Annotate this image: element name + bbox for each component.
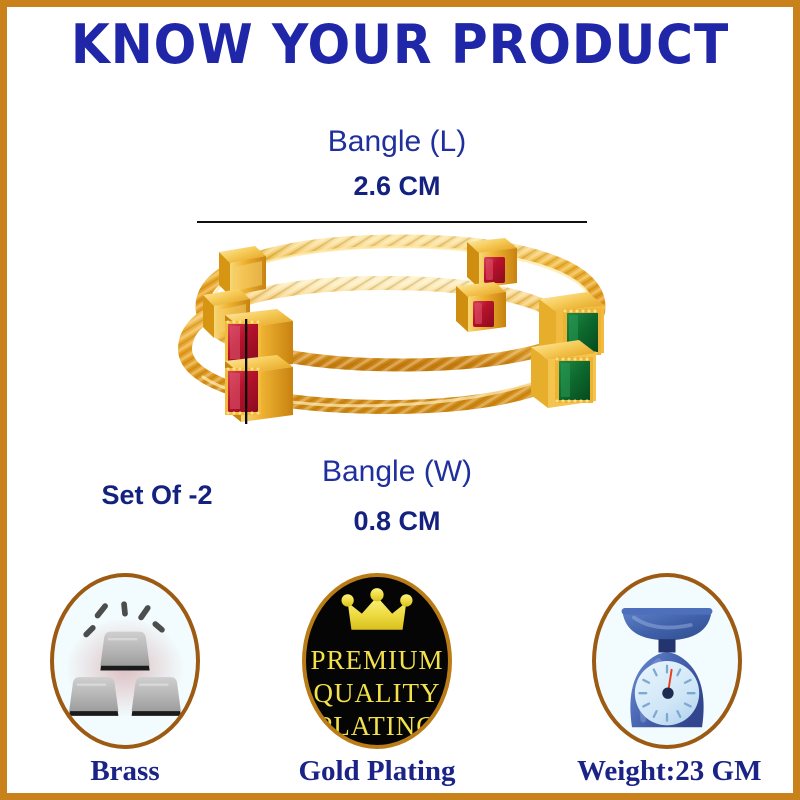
length-measure-line <box>197 221 587 223</box>
feature-weight: Weight:23 GM <box>577 573 757 788</box>
cube-red-small-back <box>467 238 517 288</box>
badge-line-quality: QUALITY <box>306 680 448 707</box>
crown-icon <box>342 588 413 630</box>
feature-brass-label: Brass <box>35 755 215 788</box>
page-title: KNOW YOUR PRODUCT <box>35 13 766 76</box>
stone-cube-green-lower <box>531 340 596 408</box>
scale-dial <box>635 661 699 725</box>
bangle-length-value: 2.6 CM <box>207 172 587 202</box>
scale-neck <box>658 639 675 652</box>
weighing-scale-icon <box>592 573 742 749</box>
feature-gold-plating: PREMIUM QUALITY PLATING Gold Plating <box>287 573 467 788</box>
ingot-bottom-right <box>132 677 181 716</box>
cube-red-small-front <box>456 282 506 332</box>
ingot-top <box>100 632 149 671</box>
premium-quality-badge: PREMIUM QUALITY PLATING <box>302 573 452 749</box>
bangle-width-value: 0.8 CM <box>207 507 587 537</box>
metal-ingots-icon <box>50 573 200 749</box>
stone-cube-red-lower <box>225 355 293 422</box>
bangle-width-block: Bangle (W) 0.8 CM <box>207 455 587 537</box>
badge-line-premium: PREMIUM <box>306 647 448 674</box>
feature-weight-label: Weight:23 GM <box>577 755 757 788</box>
badge-line-plating: PLATING <box>306 713 448 740</box>
ingot-bottom-left <box>69 677 118 716</box>
cube-plain-back-left <box>219 246 266 296</box>
bangle-length-block: Bangle (L) 2.6 CM <box>207 125 587 202</box>
feature-gold-plating-label: Gold Plating <box>287 755 467 788</box>
bangle-length-label: Bangle (L) <box>207 125 587 158</box>
product-image-bangle-pair <box>167 229 637 444</box>
feature-brass: Brass <box>35 573 215 788</box>
infographic-page: KNOW YOUR PRODUCT Bangle (L) 2.6 CM <box>0 0 800 800</box>
width-measure-line <box>245 319 247 424</box>
bangle-width-label: Bangle (W) <box>207 455 587 488</box>
scale-bowl <box>622 608 713 640</box>
